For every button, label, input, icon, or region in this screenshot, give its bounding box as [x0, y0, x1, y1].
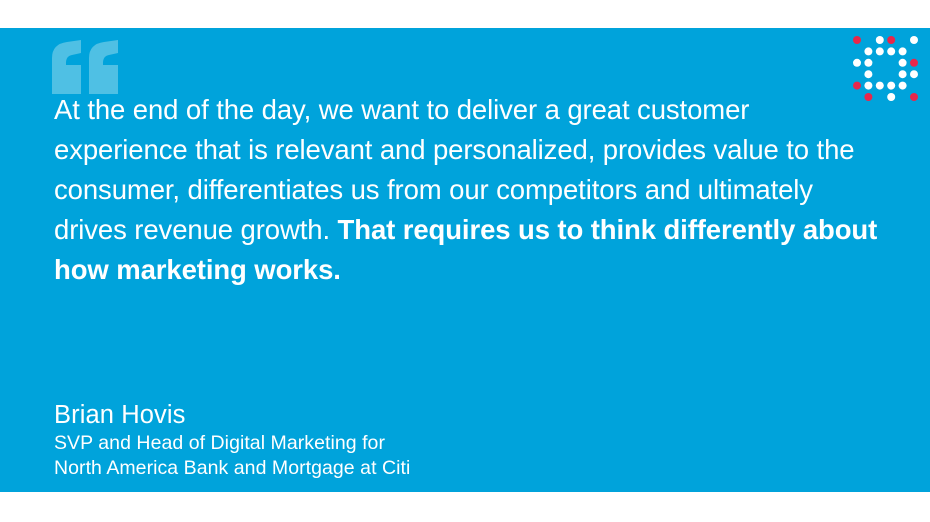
logo-dot-red [887, 36, 895, 44]
logo-dot-white [910, 70, 918, 78]
dot-matrix-logo [851, 34, 919, 102]
speaker-name: Brian Hovis [54, 400, 410, 431]
logo-dot-white [910, 36, 918, 44]
quote-panel: At the end of the day, we want to delive… [0, 28, 930, 492]
logo-dot-red [910, 59, 918, 67]
logo-dot-red [853, 36, 861, 44]
logo-dot-white [853, 59, 861, 67]
logo-dot-white [876, 47, 884, 55]
logo-dot-white [899, 70, 907, 78]
dot-matrix-logo-grid [851, 34, 919, 102]
logo-dot-white [899, 47, 907, 55]
logo-dot-red [864, 93, 872, 101]
logo-dot-red [853, 82, 861, 90]
logo-dot-white [864, 47, 872, 55]
logo-dot-white [876, 36, 884, 44]
quotation-mark-glyph [52, 40, 118, 94]
quote-slide: At the end of the day, we want to delive… [0, 0, 930, 522]
logo-dot-white [887, 93, 895, 101]
logo-dot-white [864, 59, 872, 67]
quote-text: At the end of the day, we want to delive… [54, 90, 884, 290]
logo-dot-white [887, 82, 895, 90]
attribution-block: Brian Hovis SVP and Head of Digital Mark… [54, 400, 410, 481]
speaker-role-line-1: SVP and Head of Digital Marketing for [54, 431, 410, 456]
logo-dot-red [910, 93, 918, 101]
logo-dot-white [876, 82, 884, 90]
logo-dot-white [899, 59, 907, 67]
logo-dot-white [864, 82, 872, 90]
logo-dot-white [899, 82, 907, 90]
logo-dot-white [864, 70, 872, 78]
speaker-role-line-2: North America Bank and Mortgage at Citi [54, 456, 410, 481]
logo-dot-white [887, 47, 895, 55]
